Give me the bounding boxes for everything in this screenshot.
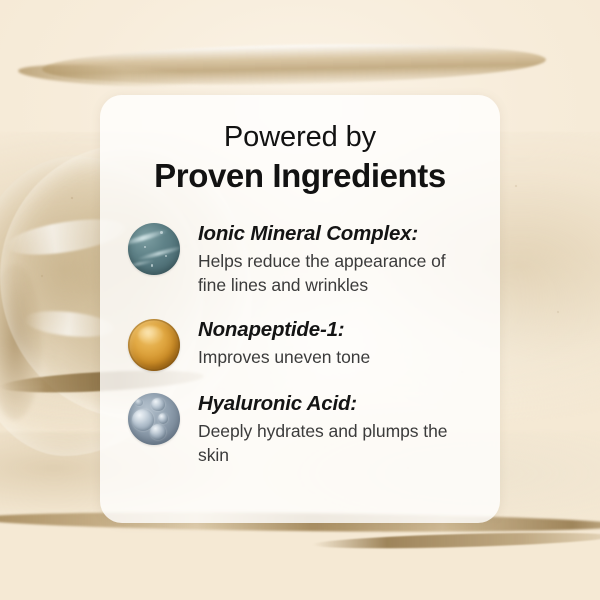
teal-mineral-swirl-circle-icon [128, 223, 180, 275]
card-heading: Powered by Proven Ingredients [100, 95, 500, 195]
ingredient-name: Hyaluronic Acid: [198, 391, 478, 416]
gel-shadow-left [0, 264, 42, 420]
ingredient-text-block: Hyaluronic Acid: Deeply hydrates and plu… [198, 391, 478, 468]
ingredient-item-nonapeptide-1: Nonapeptide-1: Improves uneven tone [100, 317, 500, 371]
ingredient-name: Nonapeptide-1: [198, 317, 478, 342]
gold-sphere-circle-icon [128, 319, 180, 371]
ingredient-list: Ionic Mineral Complex: Helps reduce the … [100, 195, 500, 468]
ingredient-text-block: Nonapeptide-1: Improves uneven tone [198, 317, 478, 370]
ingredient-description: Helps reduce the appearance of fine line… [198, 250, 478, 298]
product-ingredients-graphic: Powered by Proven Ingredients Ionic Mine… [0, 0, 600, 600]
gel-smear-top [42, 40, 547, 89]
ingredients-card: Powered by Proven Ingredients Ionic Mine… [100, 95, 500, 523]
ingredient-name: Ionic Mineral Complex: [198, 221, 478, 246]
ingredient-description: Improves uneven tone [198, 346, 478, 370]
ingredient-description: Deeply hydrates and plumps the skin [198, 420, 478, 468]
ingredient-text-block: Ionic Mineral Complex: Helps reduce the … [198, 221, 478, 298]
gel-smear-top-secondary [18, 61, 199, 90]
ingredient-item-ionic-mineral-complex: Ionic Mineral Complex: Helps reduce the … [100, 221, 500, 298]
blue-grey-water-droplets-circle-icon [128, 393, 180, 445]
heading-line-emphasis: Proven Ingredients [100, 157, 500, 195]
heading-line-primary: Powered by [100, 121, 500, 155]
gel-edge-bottom-secondary [312, 530, 600, 552]
ingredient-item-hyaluronic-acid: Hyaluronic Acid: Deeply hydrates and plu… [100, 391, 500, 468]
